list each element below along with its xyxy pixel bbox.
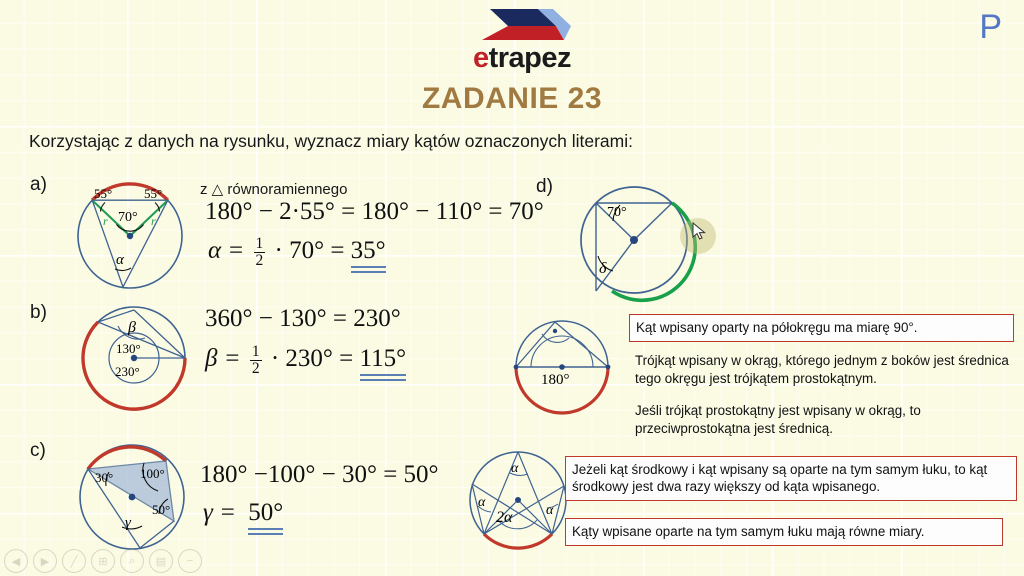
equation-a-2-mid: · 70° =	[275, 237, 345, 264]
fraction-one-half-a: 1 2	[254, 236, 266, 269]
boxed-rule-3: Kąty wpisane oparte na tym samym łuku ma…	[565, 518, 1003, 546]
play-glyph: ▶	[41, 555, 49, 568]
radius-label-left: r	[103, 214, 108, 228]
previous-glyph: ◀	[12, 555, 20, 568]
equation-a-2: α = 1 2 · 70° = 35°	[208, 236, 386, 269]
search-glyph: ⌕	[129, 555, 135, 568]
section-label-c: c)	[30, 440, 46, 462]
player-toolbar[interactable]: ◀ ▶ ╱ ⊞ ⌕ ▤ −	[4, 549, 202, 573]
fraction-numerator: 1	[250, 344, 262, 361]
mouse-cursor-icon	[692, 222, 708, 242]
answer-alpha: 35°	[351, 237, 386, 267]
fraction-denominator: 2	[250, 361, 262, 377]
angle-label-70-d: 70°	[607, 205, 627, 220]
diagram-semicircle-180: 180°	[500, 312, 625, 424]
diagram-c: 30° 100° 50° γ	[62, 435, 202, 560]
angle-label-70: 70°	[118, 210, 138, 225]
answer-gamma: 50°	[248, 499, 283, 529]
keyboard-glyph: ▤	[156, 555, 166, 568]
note-a-isosceles: z △ równoramiennego	[200, 180, 347, 198]
equation-b-1: 360° − 130° = 230°	[205, 305, 401, 333]
minus-glyph: −	[187, 555, 193, 567]
section-label-b: b)	[30, 302, 47, 324]
answer-beta: 115°	[360, 345, 407, 375]
angle-label-100: 100°	[140, 466, 165, 481]
diagram-b: β 130° 230°	[72, 300, 202, 415]
section-label-a: a)	[30, 174, 47, 196]
pen-icon[interactable]: ╱	[62, 549, 86, 573]
angle-label-alpha-top: α	[511, 461, 519, 476]
fraction-one-half-b: 1 2	[250, 344, 262, 377]
slide-content: etrapez P ZADANIE 23 Korzystając z danyc…	[0, 0, 1024, 576]
keyboard-icon[interactable]: ▤	[149, 549, 173, 573]
equation-c-2: γ = 50°	[203, 499, 283, 529]
radius-label-right: r	[151, 214, 156, 228]
angle-label-180: 180°	[541, 372, 570, 388]
angle-label-2alpha: 2α	[496, 509, 513, 526]
diagram-alpha-2alpha: α α α 2α	[458, 442, 580, 564]
angle-label-alpha-right: α	[546, 503, 554, 518]
play-icon[interactable]: ▶	[33, 549, 57, 573]
equation-a-2-lhs: α =	[208, 237, 244, 264]
boxed-rule-2: Jeżeli kąt środkowy i kąt wpisany są opa…	[565, 456, 1017, 501]
boxed-rule-1: Kąt wpisany oparty na półokręgu ma miarę…	[629, 314, 1014, 342]
previous-icon[interactable]: ◀	[4, 549, 28, 573]
fraction-numerator: 1	[254, 236, 266, 253]
pen-glyph: ╱	[71, 555, 78, 568]
stamp-icon[interactable]: ⊞	[91, 549, 115, 573]
angle-label-50: 50°	[152, 502, 170, 517]
equation-b-2: β = 1 2 · 230° = 115°	[205, 344, 406, 377]
logo-text-rest: trapez	[489, 42, 571, 74]
etrapez-logo: etrapez	[452, 4, 592, 74]
logo-mark	[452, 4, 592, 44]
section-label-d: d)	[536, 176, 553, 198]
search-icon[interactable]: ⌕	[120, 549, 144, 573]
equation-c-1: 180° −100° − 30° = 50°	[200, 461, 439, 489]
equation-b-2-mid: · 230° =	[271, 345, 353, 372]
equation-b-2-lhs: β =	[205, 345, 241, 372]
angle-label-55-left: 55°	[94, 186, 112, 201]
paragraph-2: Jeśli trójkąt prostokątny jest wpisany w…	[635, 402, 1020, 437]
logo-wordmark: etrapez	[452, 42, 592, 75]
stamp-glyph: ⊞	[98, 555, 107, 568]
corner-letter-p: P	[979, 8, 1002, 47]
logo-letter-e: e	[473, 42, 489, 74]
page-title: ZADANIE 23	[0, 82, 1024, 116]
task-prompt: Korzystając z danych na rysunku, wyznacz…	[29, 131, 633, 152]
angle-label-alpha-left: α	[478, 495, 486, 510]
angle-label-alpha: α	[116, 252, 125, 268]
equation-c-2-lhs: γ =	[203, 499, 236, 526]
angle-label-130: 130°	[116, 341, 141, 356]
paragraph-1: Trójkąt wpisany w okrąg, którego jednym …	[635, 352, 1020, 387]
minus-icon[interactable]: −	[178, 549, 202, 573]
equation-a-1: 180° − 2·55° = 180° − 110° = 70°	[205, 198, 544, 226]
angle-label-30: 30°	[95, 470, 113, 485]
diagram-a: 55° 55° 70° r r α	[62, 176, 202, 291]
angle-label-55-right: 55°	[144, 186, 162, 201]
fraction-denominator: 2	[254, 253, 266, 269]
angle-label-delta: δ	[599, 260, 607, 277]
angle-label-beta: β	[127, 319, 136, 336]
angle-label-230: 230°	[115, 364, 140, 379]
